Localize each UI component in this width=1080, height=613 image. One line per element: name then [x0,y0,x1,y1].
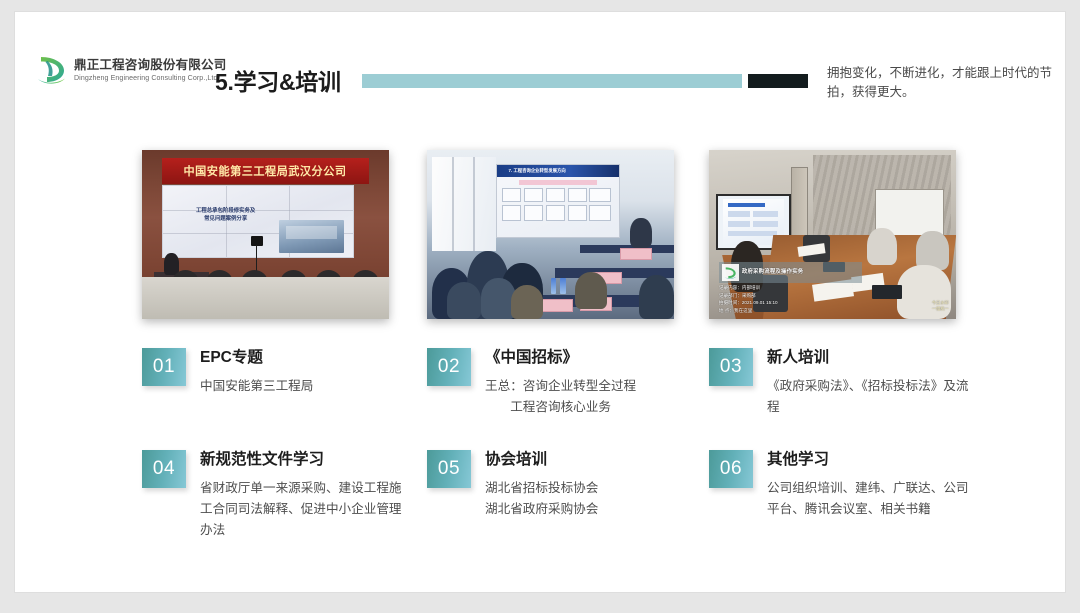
item-description: 王总：咨询企业转型全过程 工程咨询核心业务 [485,376,636,418]
auditorium-slide-title: 工程总承包阶段修实务及 常见问题案例分享 [182,208,270,224]
training-item-03[interactable]: 03 新人培训 《政府采购法》、《招标投标法》及流程 [709,348,974,418]
watermark-logo-icon [722,264,739,281]
item-number-badge: 05 [427,450,471,488]
photo-strip: 中国安能第三工程局武汉分公司 工程总承包阶段修实务及 常见问题案例分享 [15,150,1065,325]
training-item-06[interactable]: 06 其他学习 公司组织培训、建纬、广联达、公司平台、腾讯会议室、相关书籍 [709,450,974,520]
training-item-02[interactable]: 02 《中国招标》 王总：咨询企业转型全过程 工程咨询核心业务 [427,348,697,418]
auditorium-slide-image [279,220,344,253]
item-number-badge: 03 [709,348,753,386]
watermark-line: 拍摄时间：2021.09.01 15:10 [719,299,862,306]
slide-root: 鼎正工程咨询股份有限公司 Dingzheng Engineering Consu… [0,0,1080,613]
item-description: 《政府采购法》、《招标投标法》及流程 [767,376,974,418]
training-attendee [867,228,897,265]
item-body: 新人培训 《政府采购法》、《招标投标法》及流程 [767,348,974,418]
item-number-badge: 06 [709,450,753,488]
company-name-block: 鼎正工程咨询股份有限公司 Dingzheng Engineering Consu… [74,59,226,82]
seminar-slide-title: 7. 工程咨询企业转型发展方向 [508,168,565,174]
item-title: 协会培训 [485,451,598,468]
watermark-line: 记录部门：采购部 [719,292,862,299]
seminar-attendee [575,272,607,309]
seminar-slide-subbar [519,180,597,184]
item-description: 公司组织培训、建纬、广联达、公司平台、腾讯会议室、相关书籍 [767,478,974,520]
seminar-presenter [630,218,652,248]
item-description: 中国安能第三工程局 [200,376,313,397]
item-description: 湖北省招标投标协会 湖北省政府采购协会 [485,478,598,520]
photo-china-bidding-seminar: 7. 工程咨询企业转型发展方向 [427,150,674,319]
header-accent-bar-dark [748,74,808,88]
seminar-attendee [639,275,674,319]
company-name-en: Dingzheng Engineering Consulting Corp.,L… [74,74,223,81]
header-note: 拥抱变化，不断进化，才能跟上时代的节拍，获得更大。 [827,64,1057,103]
seminar-attendee [447,282,482,319]
seminar-projection-screen: 7. 工程咨询企业转型发展方向 [496,164,620,238]
auditorium-projection-screen: 工程总承包阶段修实务及 常见问题案例分享 [162,185,355,258]
item-body: 其他学习 公司组织培训、建纬、广联达、公司平台、腾讯会议室、相关书籍 [767,450,974,520]
item-title: 其他学习 [767,451,974,468]
slide-canvas: 鼎正工程咨询股份有限公司 Dingzheng Engineering Consu… [14,11,1066,593]
header-accent-bar [362,74,742,88]
photo-watermark: 政府采购流程及操作实务 记录内容：内部培训 记录部门：采购部 拍摄时间：2021… [719,262,862,314]
training-item-04[interactable]: 04 新规范性文件学习 省财政厅单一来源采购、建设工程施工合同司法解释、促进中小… [142,450,412,540]
seminar-slide-header: 7. 工程咨询企业转型发展方向 [497,165,619,177]
auditorium-banner-text: 中国安能第三工程局武汉分公司 [184,163,347,179]
watermark-title-row: 政府采购流程及操作实务 [719,262,862,283]
item-title: 《中国招标》 [485,349,636,366]
item-body: 新规范性文件学习 省财政厅单一来源采购、建设工程施工合同司法解释、促进中小企业管… [200,450,412,540]
company-name-cn: 鼎正工程咨询股份有限公司 [74,59,226,72]
item-title: EPC专题 [200,349,313,366]
item-number-badge: 04 [142,450,186,488]
item-description: 省财政厅单一来源采购、建设工程施工合同司法解释、促进中小企业管理办法 [200,478,412,540]
page-title: 5.学习&培训 [215,63,341,97]
audience-seats [142,277,389,319]
item-title: 新人培训 [767,349,974,366]
logo-leaf-icon [37,54,67,86]
photo-epc-auditorium: 中国安能第三工程局武汉分公司 工程总承包阶段修实务及 常见问题案例分享 [142,150,389,319]
company-logo: 鼎正工程咨询股份有限公司 Dingzheng Engineering Consu… [37,54,226,86]
item-body: 协会培训 湖北省招标投标协会 湖北省政府采购协会 [485,450,598,520]
item-body: EPC专题 中国安能第三工程局 [200,348,313,397]
training-item-05[interactable]: 05 协会培训 湖北省招标投标协会 湖北省政府采购协会 [427,450,697,520]
training-item-01[interactable]: 01 EPC专题 中国安能第三工程局 [142,348,412,397]
watermark-corner-brand: 今日水印 一相机一 [932,300,949,313]
slide-header: 鼎正工程咨询股份有限公司 Dingzheng Engineering Consu… [15,12,1065,112]
watermark-line: 记录内容：内部培训 [719,284,862,291]
watermark-line: 地 点：我在这里 [719,307,862,314]
item-number-badge: 01 [142,348,186,386]
seminar-window [432,157,496,252]
auditorium-red-banner: 中国安能第三工程局武汉分公司 [162,158,369,183]
seminar-attendee [511,285,543,319]
watermark-title: 政府采购流程及操作实务 [742,268,804,277]
item-title: 新规范性文件学习 [200,451,412,468]
item-body: 《中国招标》 王总：咨询企业转型全过程 工程咨询核心业务 [485,348,636,418]
item-number-badge: 02 [427,348,471,386]
photo-newcomer-training: 政府采购流程及操作实务 记录内容：内部培训 记录部门：采购部 拍摄时间：2021… [709,150,956,319]
